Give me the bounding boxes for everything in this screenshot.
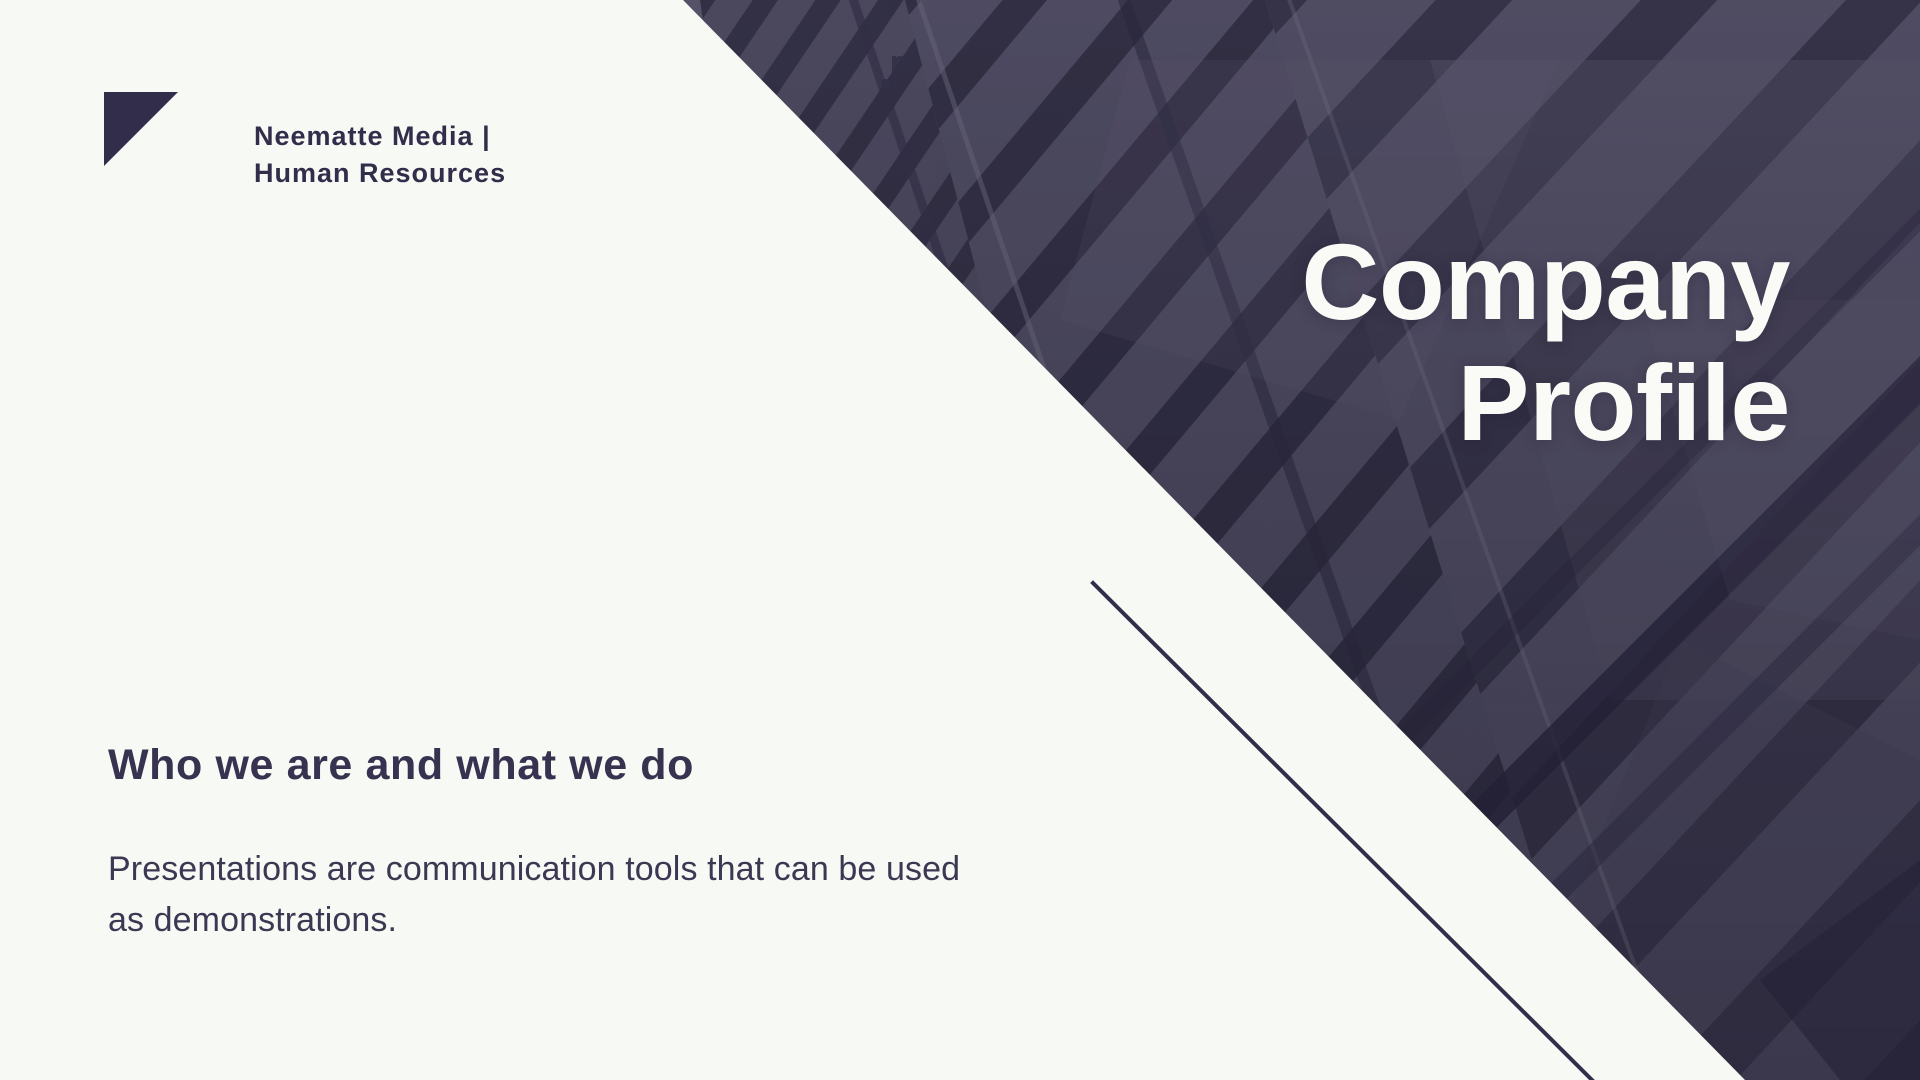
slide-title: Company Profile bbox=[970, 222, 1790, 464]
section-heading: Who we are and what we do bbox=[108, 740, 988, 792]
logo-lockup[interactable]: Neematte Media | Human Resources bbox=[104, 92, 506, 193]
triangle-mark-icon bbox=[104, 92, 178, 166]
brand-name: Neematte Media | Human Resources bbox=[254, 118, 506, 193]
section-body: Presentations are communication tools th… bbox=[108, 844, 988, 947]
intro-text-block: Who we are and what we do Presentations … bbox=[108, 740, 988, 947]
slide-canvas: Neematte Media | Human Resources Company… bbox=[0, 0, 1920, 1080]
